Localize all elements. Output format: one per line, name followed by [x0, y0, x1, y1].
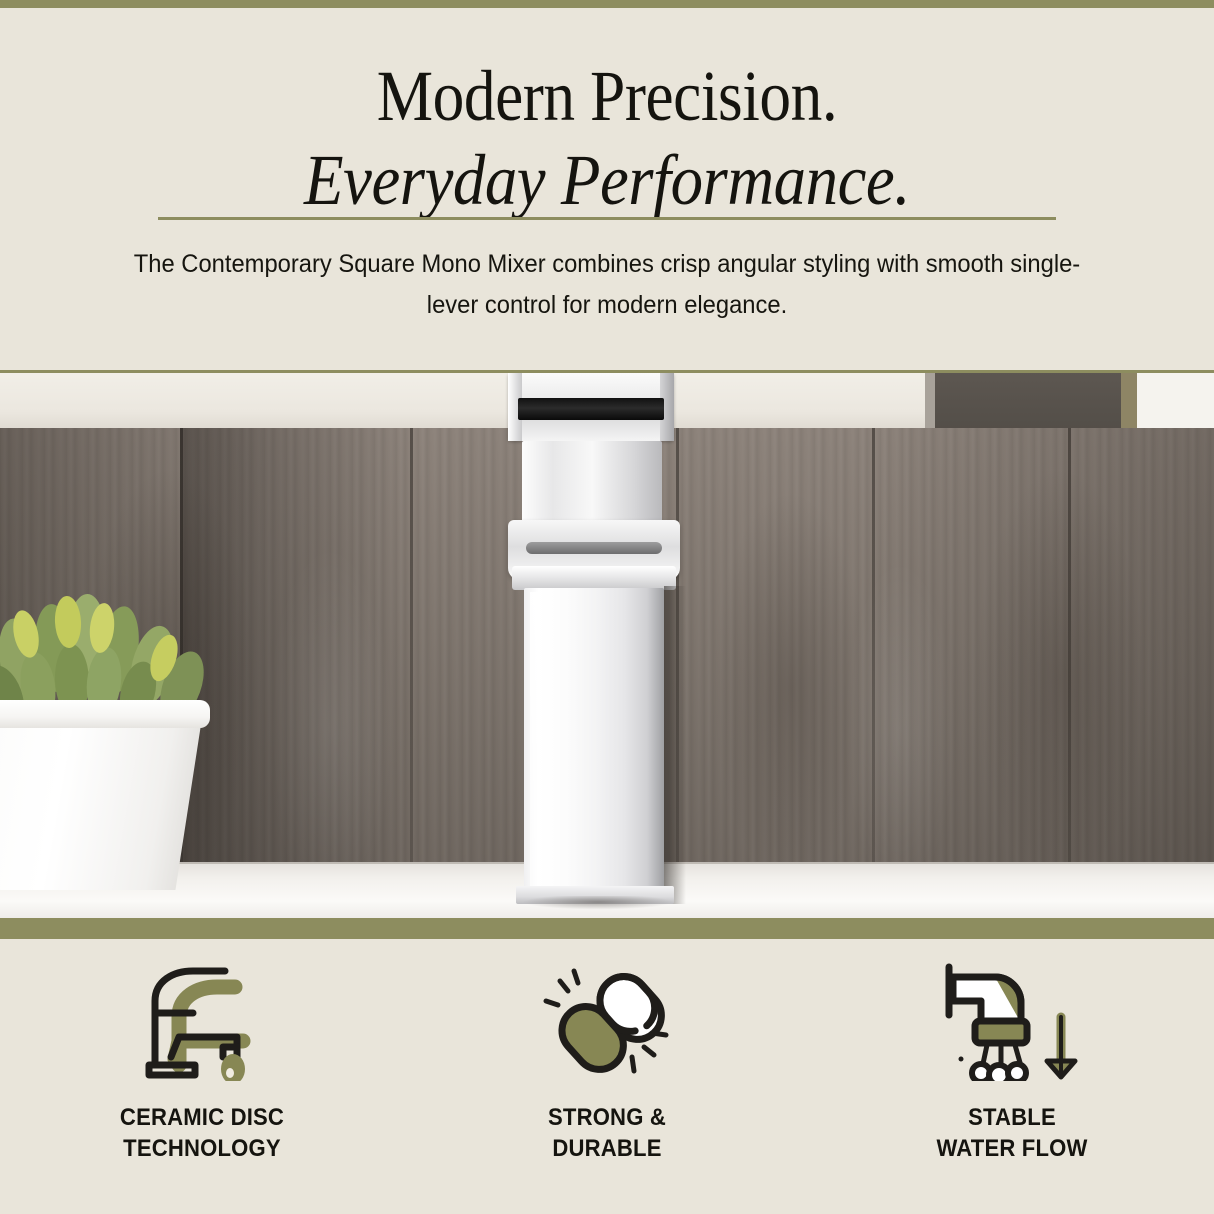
tap-body-highlight	[530, 592, 540, 896]
square-mono-mixer-tap	[498, 370, 698, 918]
tap-body-shadow	[664, 586, 686, 904]
features-section: CERAMIC DISC TECHNOLOGY	[0, 939, 1214, 1214]
photo-top-rule	[0, 370, 1214, 373]
tap-lever-gap	[526, 542, 662, 554]
water-flow-arrow-icon	[847, 961, 1177, 1081]
faucet-drip-icon	[37, 961, 367, 1081]
tap-floor-shadow	[498, 896, 698, 912]
wall-recess-panel	[935, 372, 1125, 430]
chain-links-svg	[532, 961, 682, 1081]
headline-primary: Modern Precision.	[73, 8, 1141, 132]
tap-neck	[522, 441, 662, 527]
olive-divider-band	[0, 918, 1214, 939]
headline-secondary: Everyday Performance.	[61, 132, 1154, 218]
product-photo	[0, 370, 1214, 918]
water-flow-svg	[937, 961, 1087, 1081]
wall-trim-right	[1121, 372, 1137, 430]
tap-collar	[512, 566, 676, 590]
faucet-drip-svg	[127, 961, 277, 1081]
feature-label: CERAMIC DISC TECHNOLOGY	[51, 1103, 355, 1164]
tap-spout-slot	[518, 398, 664, 420]
wall-right-white	[1137, 372, 1214, 430]
feature-item: STRONG & DURABLE	[442, 961, 772, 1164]
product-feature-card: Modern Precision. Everyday Performance. …	[0, 0, 1214, 1214]
header-subtitle: The Contemporary Square Mono Mixer combi…	[132, 244, 1082, 325]
feature-item: CERAMIC DISC TECHNOLOGY	[37, 961, 367, 1164]
chain-links-icon	[442, 961, 772, 1081]
header-section: Modern Precision. Everyday Performance. …	[0, 8, 1214, 370]
plant-pot-rim	[0, 700, 210, 728]
top-accent-rule	[0, 0, 1214, 8]
feature-item: STABLE WATER FLOW	[847, 961, 1177, 1164]
tap-body-column	[524, 588, 664, 900]
header-divider	[158, 217, 1056, 220]
feature-label: STRONG & DURABLE	[455, 1103, 759, 1164]
plant-pot	[0, 705, 204, 890]
feature-label: STABLE WATER FLOW	[860, 1103, 1164, 1164]
